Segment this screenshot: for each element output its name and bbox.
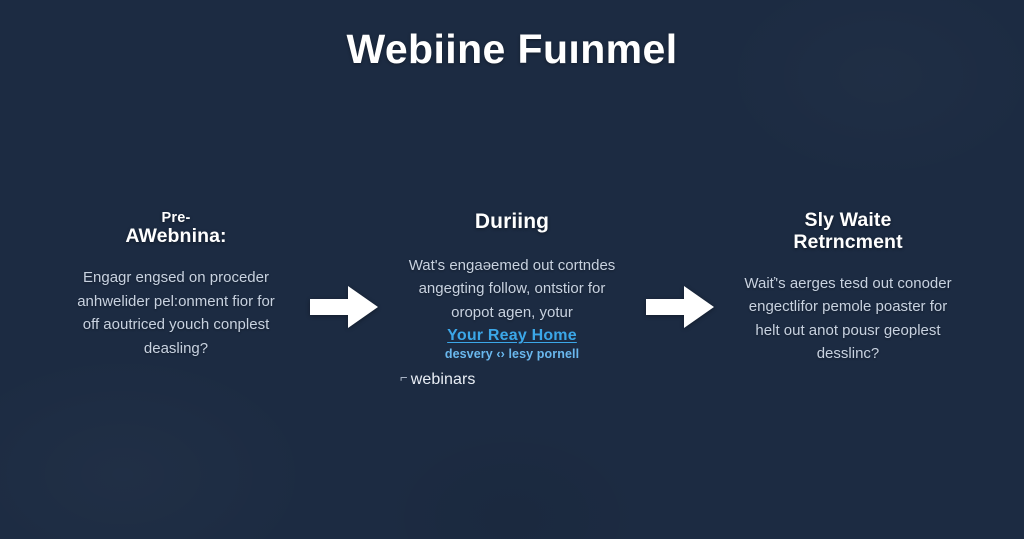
stage-2-link-subtext: desvery ‹› lesy pornell: [445, 346, 579, 362]
stage-2-bullet-label: webinars: [411, 371, 476, 388]
stage-3-heading-line2: Retrncment: [793, 232, 902, 254]
stage-1-heading-line2: AWebnina:: [125, 226, 226, 248]
stage-2-heading: Duriing: [475, 210, 549, 234]
page-title: Webiine Fuınmel: [0, 26, 1024, 73]
stage-2-body-text: Wat's engaǝemed out cortndes angegting f…: [403, 254, 621, 325]
funnel-stages-row: Pre- AWebnina: Engagr engsed on proceder…: [52, 210, 972, 389]
stage-1-heading-line1: Pre-: [125, 210, 226, 226]
bullet-dash-icon: ⌐: [400, 370, 408, 385]
funnel-stage-pre-webinar: Pre- AWebnina: Engagr engsed on proceder…: [52, 210, 300, 360]
stage-3-heading: Sly Waite Retrncment: [793, 210, 902, 254]
stage-3-body-text: Waiť's aerges tesd out conoder engectlif…: [739, 272, 957, 366]
arrow-right-icon-2: [644, 286, 716, 328]
funnel-stage-post-webinar: Sly Waite Retrncment Waiť's aerges tesd …: [724, 210, 972, 366]
slide-canvas: Webiine Fuınmel Pre- AWebnina: Engagr en…: [0, 0, 1024, 539]
stage-1-body-text: Engagr engsed on proceder anhwelider pel…: [67, 266, 285, 360]
stage-2-bullet-item: ⌐webinars: [388, 371, 636, 389]
arrow-right-icon-1: [308, 286, 380, 328]
stage-2-link[interactable]: Your Reay Home: [447, 327, 577, 345]
stage-3-heading-line1: Sly Waite: [793, 210, 902, 232]
funnel-stage-during: Duriing Wat's engaǝemed out cortndes ang…: [388, 210, 636, 389]
stage-1-heading: Pre- AWebnina:: [125, 210, 226, 248]
